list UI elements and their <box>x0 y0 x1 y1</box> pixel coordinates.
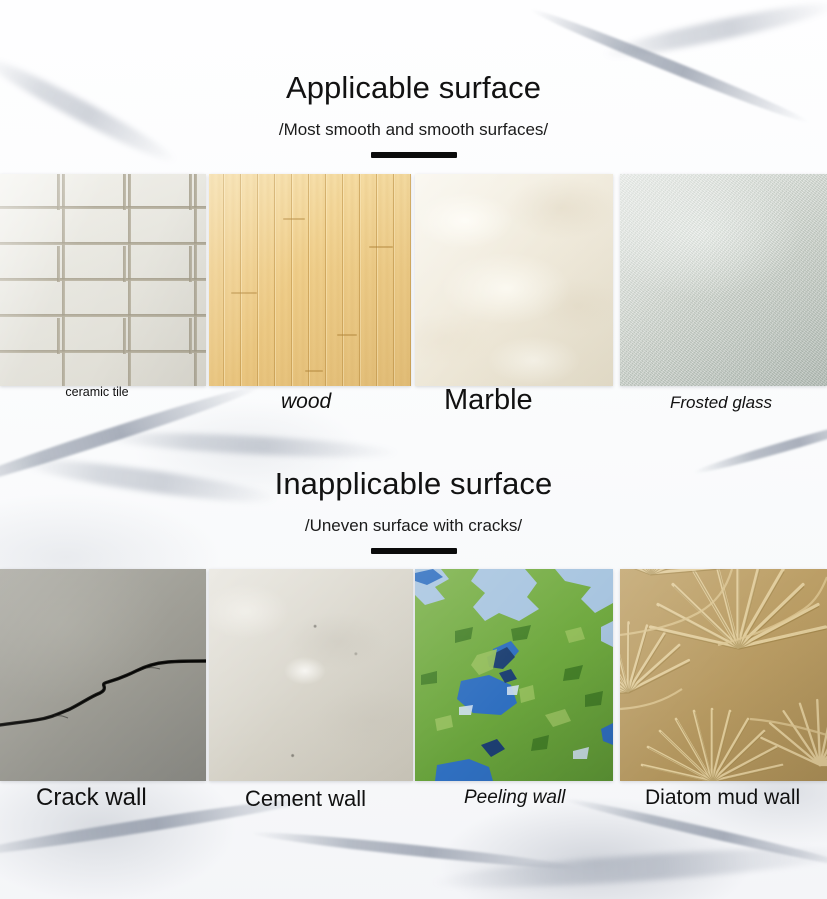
swatch-frosted-glass[interactable] <box>620 174 827 386</box>
inapplicable-divider <box>371 548 457 554</box>
inapplicable-swatch-row <box>0 569 827 781</box>
caption-frosted-glass: Frosted glass <box>670 393 772 413</box>
ceramic-tile-pattern <box>0 174 206 386</box>
swatch-wood[interactable] <box>209 174 411 386</box>
diatom-fan-pattern <box>620 569 827 781</box>
swatch-marble[interactable] <box>415 174 613 386</box>
swatch-peeling-wall[interactable] <box>415 569 613 781</box>
applicable-divider <box>371 152 457 158</box>
applicable-section-header: Applicable surface /Most smooth and smoo… <box>0 72 827 158</box>
crack-line-icon <box>0 569 206 781</box>
marble-sheen <box>415 174 613 386</box>
applicable-section-title: Applicable surface <box>0 72 827 105</box>
inapplicable-section-title: Inapplicable surface <box>0 468 827 501</box>
cement-wall-sheen <box>209 569 413 781</box>
caption-crack-wall: Crack wall <box>36 784 147 812</box>
swatch-ceramic-tile[interactable] <box>0 174 206 386</box>
swatch-crack-wall[interactable] <box>0 569 206 781</box>
caption-peeling-wall: Peeling wall <box>464 787 565 809</box>
swatch-cement-wall[interactable] <box>209 569 413 781</box>
caption-wood: wood <box>281 390 331 415</box>
caption-marble: Marble <box>444 383 533 417</box>
caption-diatom-mud-wall: Diatom mud wall <box>645 786 800 811</box>
caption-cement-wall: Cement wall <box>245 786 366 812</box>
caption-ceramic-tile: ceramic tile <box>62 385 132 400</box>
peeling-paint-pattern <box>415 569 613 781</box>
swatch-diatom-mud-wall[interactable] <box>620 569 827 781</box>
applicable-swatch-row <box>0 174 827 386</box>
applicable-section-subtitle: /Most smooth and smooth surfaces/ <box>0 121 827 139</box>
inapplicable-section-header: Inapplicable surface /Uneven surface wit… <box>0 468 827 554</box>
inapplicable-section-subtitle: /Uneven surface with cracks/ <box>0 517 827 535</box>
wood-sheen <box>209 174 411 386</box>
frosted-glass-sheen <box>620 174 827 386</box>
